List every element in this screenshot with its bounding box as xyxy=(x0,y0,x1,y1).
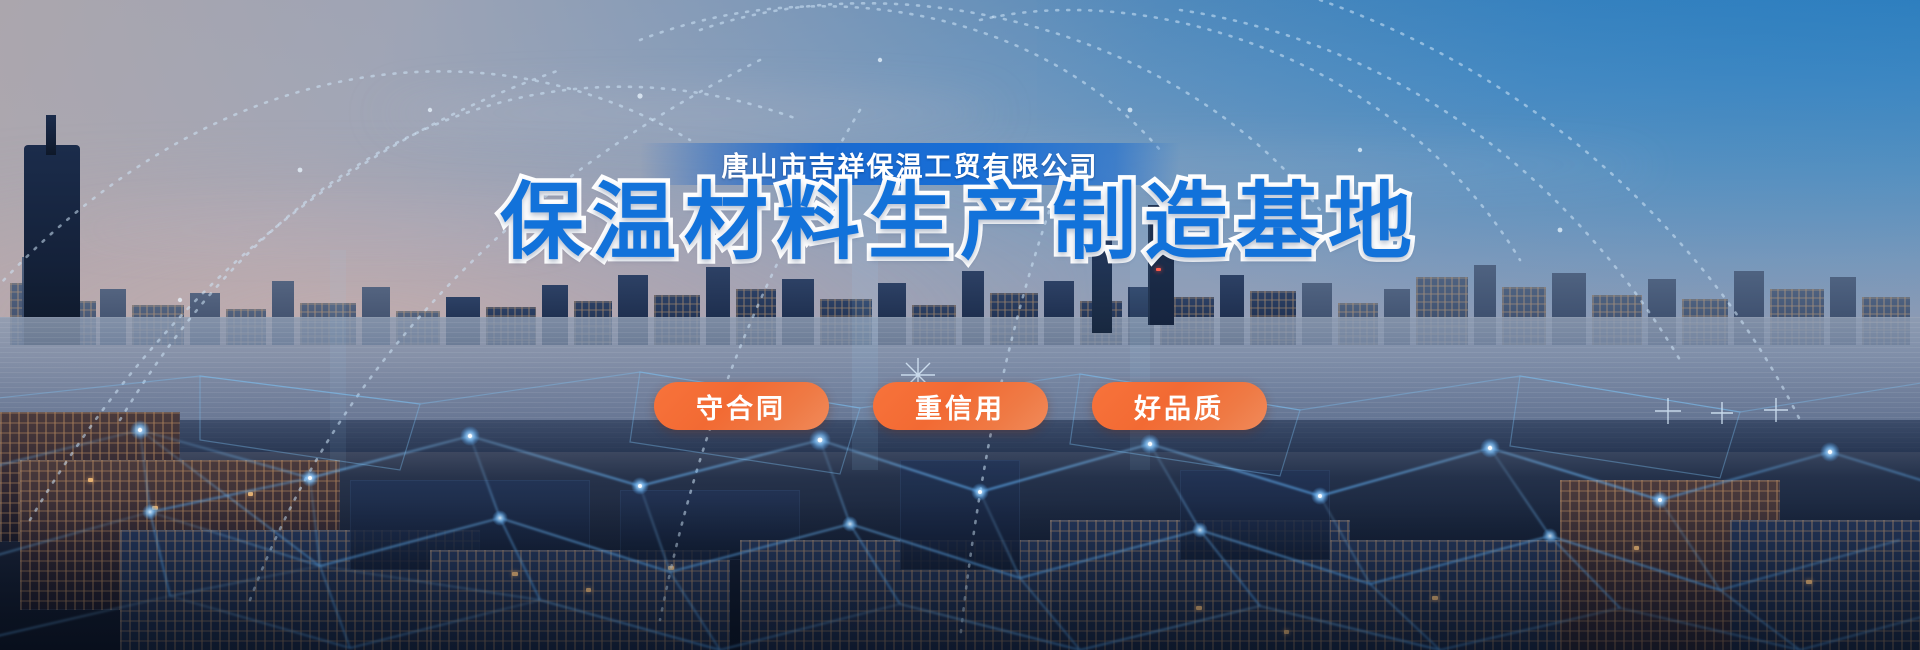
feature-badge-label: 重信用 xyxy=(915,387,1005,426)
page-title: 保温材料生产制造基地 xyxy=(0,178,1920,266)
feature-badge-list: 守合同 重信用 好品质 xyxy=(0,382,1920,430)
feature-badge-quality[interactable]: 好品质 xyxy=(1092,382,1267,430)
hero-banner: 唐山市吉祥保温工贸有限公司 保温材料生产制造基地 守合同 重信用 好品质 xyxy=(0,0,1920,650)
feature-badge-label: 好品质 xyxy=(1134,387,1224,426)
feature-badge-label: 守合同 xyxy=(696,387,786,426)
banner-content: 唐山市吉祥保温工贸有限公司 保温材料生产制造基地 守合同 重信用 好品质 xyxy=(0,0,1920,650)
feature-badge-contract[interactable]: 守合同 xyxy=(654,382,829,430)
feature-badge-credit[interactable]: 重信用 xyxy=(873,382,1048,430)
